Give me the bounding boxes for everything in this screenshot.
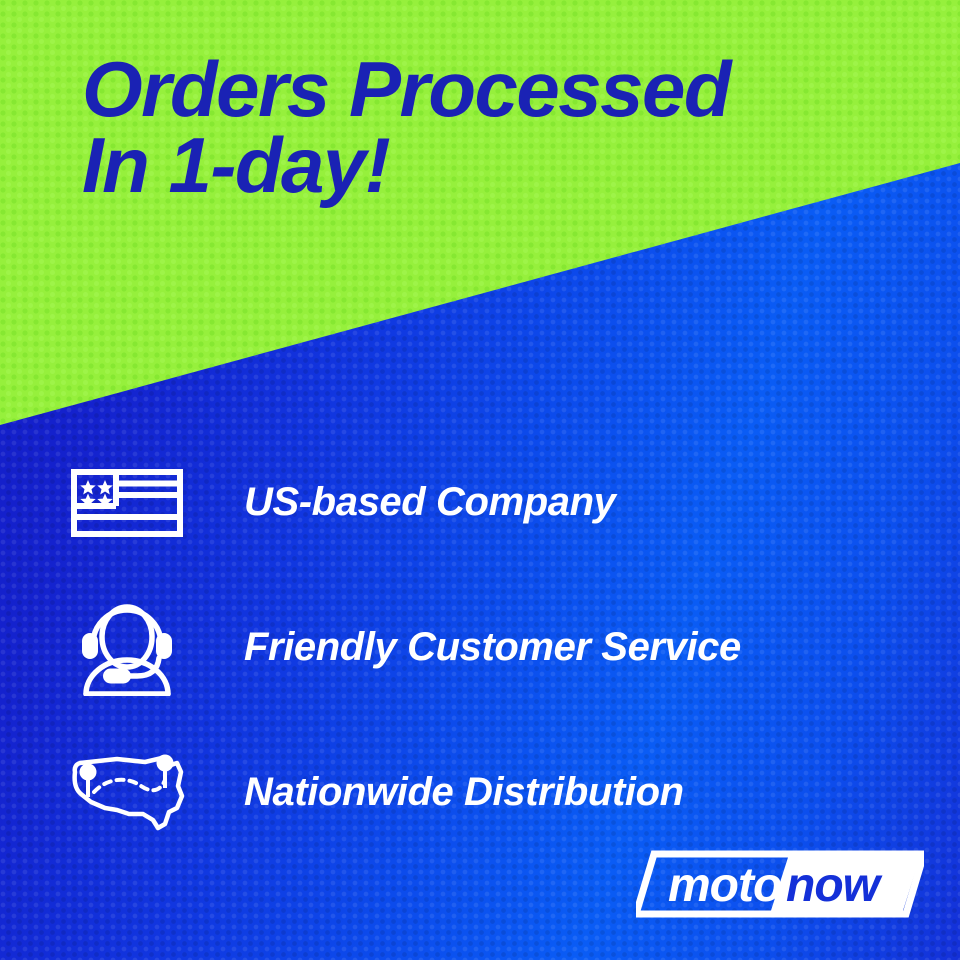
- us-map-pins-icon: [62, 738, 192, 848]
- feature-item-us-based: US-based Company: [0, 430, 960, 575]
- us-flag-icon: [62, 448, 192, 558]
- feature-label: Friendly Customer Service: [244, 625, 741, 670]
- feature-label: US-based Company: [244, 480, 615, 525]
- feature-list: US-based Company: [0, 430, 960, 865]
- logo-word-now: now: [786, 859, 883, 912]
- promo-poster: Orders Processed In 1-day!: [0, 0, 960, 960]
- headline: Orders Processed In 1-day!: [82, 52, 912, 203]
- feature-item-nationwide: Nationwide Distribution: [0, 720, 960, 865]
- logo-word-moto: moto: [668, 859, 781, 912]
- motonow-logo[interactable]: moto now: [636, 848, 924, 920]
- feature-item-customer-service: Friendly Customer Service: [0, 575, 960, 720]
- headset-icon: [62, 593, 192, 703]
- feature-label: Nationwide Distribution: [244, 770, 684, 815]
